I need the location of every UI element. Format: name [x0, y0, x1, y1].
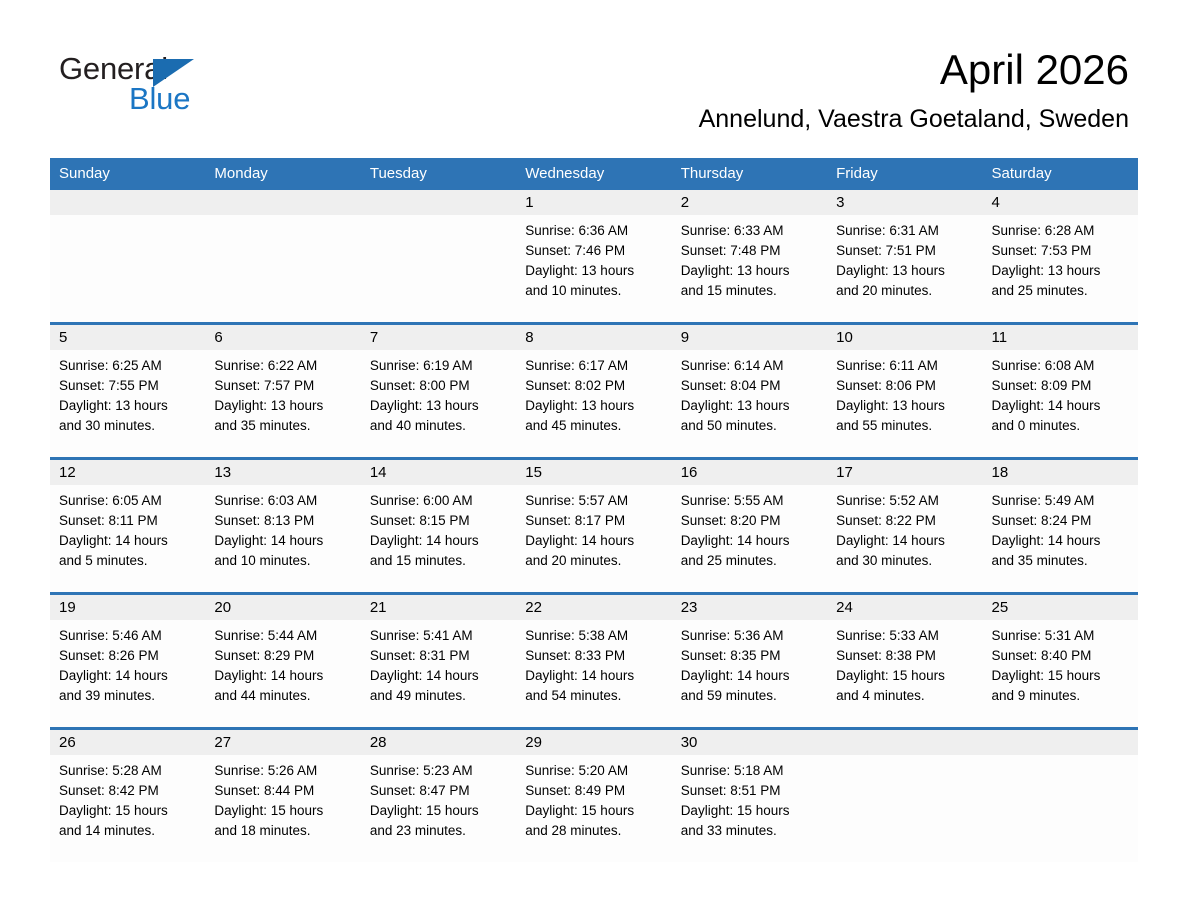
day-number: 23: [672, 595, 827, 620]
day-number: 2: [672, 190, 827, 215]
daylight-duration-line1: Daylight: 15 hours: [992, 666, 1130, 686]
calendar-day-cell-empty: [205, 190, 360, 324]
day-details: Sunrise: 5:20 AMSunset: 8:49 PMDaylight:…: [516, 755, 671, 841]
sunset-time: Sunset: 8:40 PM: [992, 646, 1130, 666]
day-number: 3: [827, 190, 982, 215]
day-details: Sunrise: 6:05 AMSunset: 8:11 PMDaylight:…: [50, 485, 205, 571]
calendar-day-cell[interactable]: 14Sunrise: 6:00 AMSunset: 8:15 PMDayligh…: [361, 459, 516, 594]
day-cell-inner: [827, 730, 982, 862]
sunset-time: Sunset: 8:51 PM: [681, 781, 819, 801]
daylight-duration-line1: Daylight: 15 hours: [59, 801, 197, 821]
day-number: 9: [672, 325, 827, 350]
daylight-duration-line1: Daylight: 14 hours: [214, 666, 352, 686]
calendar-day-cell[interactable]: 9Sunrise: 6:14 AMSunset: 8:04 PMDaylight…: [672, 324, 827, 459]
day-cell-inner: 3Sunrise: 6:31 AMSunset: 7:51 PMDaylight…: [827, 190, 982, 322]
daylight-duration-line2: and 30 minutes.: [836, 551, 974, 571]
day-details: Sunrise: 6:28 AMSunset: 7:53 PMDaylight:…: [983, 215, 1138, 301]
daylight-duration-line2: and 45 minutes.: [525, 416, 663, 436]
day-details: Sunrise: 6:17 AMSunset: 8:02 PMDaylight:…: [516, 350, 671, 436]
sunset-time: Sunset: 7:57 PM: [214, 376, 352, 396]
sunset-time: Sunset: 8:15 PM: [370, 511, 508, 531]
calendar-day-cell[interactable]: 7Sunrise: 6:19 AMSunset: 8:00 PMDaylight…: [361, 324, 516, 459]
day-cell-inner: 18Sunrise: 5:49 AMSunset: 8:24 PMDayligh…: [983, 460, 1138, 592]
day-details: Sunrise: 5:38 AMSunset: 8:33 PMDaylight:…: [516, 620, 671, 706]
day-number: 19: [50, 595, 205, 620]
day-number: 25: [983, 595, 1138, 620]
sunrise-time: Sunrise: 6:22 AM: [214, 356, 352, 376]
day-cell-inner: 26Sunrise: 5:28 AMSunset: 8:42 PMDayligh…: [50, 730, 205, 862]
day-details: Sunrise: 5:33 AMSunset: 8:38 PMDaylight:…: [827, 620, 982, 706]
weekday-header-friday: Friday: [827, 158, 982, 190]
day-number: 12: [50, 460, 205, 485]
calendar-day-cell[interactable]: 5Sunrise: 6:25 AMSunset: 7:55 PMDaylight…: [50, 324, 205, 459]
sunset-time: Sunset: 8:49 PM: [525, 781, 663, 801]
sunrise-time: Sunrise: 6:19 AM: [370, 356, 508, 376]
calendar-week-row: 1Sunrise: 6:36 AMSunset: 7:46 PMDaylight…: [50, 190, 1138, 324]
page-header: General Blue April 2026 Annelund, Vaestr…: [0, 0, 1188, 158]
calendar-day-cell[interactable]: 30Sunrise: 5:18 AMSunset: 8:51 PMDayligh…: [672, 729, 827, 863]
sunset-time: Sunset: 8:38 PM: [836, 646, 974, 666]
day-number: 20: [205, 595, 360, 620]
calendar-day-cell[interactable]: 18Sunrise: 5:49 AMSunset: 8:24 PMDayligh…: [983, 459, 1138, 594]
day-cell-inner: 10Sunrise: 6:11 AMSunset: 8:06 PMDayligh…: [827, 325, 982, 457]
sunrise-time: Sunrise: 5:41 AM: [370, 626, 508, 646]
day-details: Sunrise: 5:41 AMSunset: 8:31 PMDaylight:…: [361, 620, 516, 706]
sunset-time: Sunset: 7:48 PM: [681, 241, 819, 261]
sunrise-time: Sunrise: 6:17 AM: [525, 356, 663, 376]
sunrise-time: Sunrise: 5:28 AM: [59, 761, 197, 781]
daylight-duration-line2: and 55 minutes.: [836, 416, 974, 436]
daylight-duration-line1: Daylight: 14 hours: [836, 531, 974, 551]
daylight-duration-line1: Daylight: 14 hours: [992, 396, 1130, 416]
day-number: [50, 190, 205, 215]
day-details: Sunrise: 6:08 AMSunset: 8:09 PMDaylight:…: [983, 350, 1138, 436]
sunrise-time: Sunrise: 5:23 AM: [370, 761, 508, 781]
daylight-duration-line2: and 14 minutes.: [59, 821, 197, 841]
calendar-week-row: 5Sunrise: 6:25 AMSunset: 7:55 PMDaylight…: [50, 324, 1138, 459]
daylight-duration-line2: and 49 minutes.: [370, 686, 508, 706]
day-cell-inner: 6Sunrise: 6:22 AMSunset: 7:57 PMDaylight…: [205, 325, 360, 457]
sunset-time: Sunset: 8:11 PM: [59, 511, 197, 531]
calendar-day-cell[interactable]: 1Sunrise: 6:36 AMSunset: 7:46 PMDaylight…: [516, 190, 671, 324]
calendar-day-cell[interactable]: 2Sunrise: 6:33 AMSunset: 7:48 PMDaylight…: [672, 190, 827, 324]
calendar-week-row: 19Sunrise: 5:46 AMSunset: 8:26 PMDayligh…: [50, 594, 1138, 729]
calendar-day-cell[interactable]: 24Sunrise: 5:33 AMSunset: 8:38 PMDayligh…: [827, 594, 982, 729]
calendar-day-cell[interactable]: 25Sunrise: 5:31 AMSunset: 8:40 PMDayligh…: [983, 594, 1138, 729]
daylight-duration-line1: Daylight: 13 hours: [681, 396, 819, 416]
sunrise-time: Sunrise: 6:25 AM: [59, 356, 197, 376]
sunset-time: Sunset: 8:26 PM: [59, 646, 197, 666]
sunset-time: Sunset: 8:44 PM: [214, 781, 352, 801]
day-number: [983, 730, 1138, 755]
day-details: Sunrise: 5:36 AMSunset: 8:35 PMDaylight:…: [672, 620, 827, 706]
daylight-duration-line1: Daylight: 15 hours: [525, 801, 663, 821]
day-number: 28: [361, 730, 516, 755]
daylight-duration-line1: Daylight: 15 hours: [370, 801, 508, 821]
sunrise-time: Sunrise: 5:52 AM: [836, 491, 974, 511]
daylight-duration-line2: and 44 minutes.: [214, 686, 352, 706]
daylight-duration-line2: and 20 minutes.: [836, 281, 974, 301]
day-cell-inner: 5Sunrise: 6:25 AMSunset: 7:55 PMDaylight…: [50, 325, 205, 457]
day-number: 24: [827, 595, 982, 620]
daylight-duration-line2: and 25 minutes.: [992, 281, 1130, 301]
day-details: Sunrise: 6:14 AMSunset: 8:04 PMDaylight:…: [672, 350, 827, 436]
daylight-duration-line1: Daylight: 14 hours: [681, 666, 819, 686]
sunrise-time: Sunrise: 6:03 AM: [214, 491, 352, 511]
day-number: 13: [205, 460, 360, 485]
day-details: Sunrise: 6:11 AMSunset: 8:06 PMDaylight:…: [827, 350, 982, 436]
calendar-day-cell[interactable]: 3Sunrise: 6:31 AMSunset: 7:51 PMDaylight…: [827, 190, 982, 324]
day-details: Sunrise: 5:44 AMSunset: 8:29 PMDaylight:…: [205, 620, 360, 706]
page-title: April 2026: [699, 44, 1129, 96]
calendar-day-cell[interactable]: 6Sunrise: 6:22 AMSunset: 7:57 PMDaylight…: [205, 324, 360, 459]
day-cell-inner: [50, 190, 205, 322]
day-cell-inner: 23Sunrise: 5:36 AMSunset: 8:35 PMDayligh…: [672, 595, 827, 727]
daylight-duration-line1: Daylight: 13 hours: [992, 261, 1130, 281]
daylight-duration-line2: and 10 minutes.: [525, 281, 663, 301]
sunrise-time: Sunrise: 5:38 AM: [525, 626, 663, 646]
day-number: 7: [361, 325, 516, 350]
day-cell-inner: 28Sunrise: 5:23 AMSunset: 8:47 PMDayligh…: [361, 730, 516, 862]
day-cell-inner: 27Sunrise: 5:26 AMSunset: 8:44 PMDayligh…: [205, 730, 360, 862]
day-number: 27: [205, 730, 360, 755]
day-cell-inner: 13Sunrise: 6:03 AMSunset: 8:13 PMDayligh…: [205, 460, 360, 592]
calendar-body: 1Sunrise: 6:36 AMSunset: 7:46 PMDaylight…: [50, 190, 1138, 862]
day-number: 15: [516, 460, 671, 485]
day-cell-inner: 19Sunrise: 5:46 AMSunset: 8:26 PMDayligh…: [50, 595, 205, 727]
day-details: Sunrise: 6:00 AMSunset: 8:15 PMDaylight:…: [361, 485, 516, 571]
calendar-day-cell[interactable]: 20Sunrise: 5:44 AMSunset: 8:29 PMDayligh…: [205, 594, 360, 729]
daylight-duration-line1: Daylight: 14 hours: [59, 531, 197, 551]
weekday-header-sunday: Sunday: [50, 158, 205, 190]
calendar-week-row: 26Sunrise: 5:28 AMSunset: 8:42 PMDayligh…: [50, 729, 1138, 863]
calendar-day-cell-empty: [361, 190, 516, 324]
daylight-duration-line2: and 10 minutes.: [214, 551, 352, 571]
daylight-duration-line2: and 40 minutes.: [370, 416, 508, 436]
daylight-duration-line2: and 4 minutes.: [836, 686, 974, 706]
calendar-day-cell[interactable]: 21Sunrise: 5:41 AMSunset: 8:31 PMDayligh…: [361, 594, 516, 729]
day-cell-inner: [983, 730, 1138, 862]
location-subtitle: Annelund, Vaestra Goetaland, Sweden: [699, 102, 1129, 136]
daylight-duration-line1: Daylight: 13 hours: [836, 396, 974, 416]
day-cell-inner: 29Sunrise: 5:20 AMSunset: 8:49 PMDayligh…: [516, 730, 671, 862]
sunset-time: Sunset: 7:51 PM: [836, 241, 974, 261]
day-cell-inner: 30Sunrise: 5:18 AMSunset: 8:51 PMDayligh…: [672, 730, 827, 862]
daylight-duration-line2: and 59 minutes.: [681, 686, 819, 706]
calendar-day-cell-empty: [827, 729, 982, 863]
day-cell-inner: 25Sunrise: 5:31 AMSunset: 8:40 PMDayligh…: [983, 595, 1138, 727]
day-cell-inner: 24Sunrise: 5:33 AMSunset: 8:38 PMDayligh…: [827, 595, 982, 727]
logo-text-blue: Blue: [129, 82, 190, 116]
sunset-time: Sunset: 7:46 PM: [525, 241, 663, 261]
day-number: 6: [205, 325, 360, 350]
daylight-duration-line1: Daylight: 13 hours: [525, 261, 663, 281]
day-details: Sunrise: 5:23 AMSunset: 8:47 PMDaylight:…: [361, 755, 516, 841]
sunset-time: Sunset: 7:53 PM: [992, 241, 1130, 261]
day-cell-inner: 9Sunrise: 6:14 AMSunset: 8:04 PMDaylight…: [672, 325, 827, 457]
general-blue-logo: General Blue: [59, 52, 259, 118]
sunset-time: Sunset: 8:09 PM: [992, 376, 1130, 396]
day-details: Sunrise: 6:31 AMSunset: 7:51 PMDaylight:…: [827, 215, 982, 301]
day-details: Sunrise: 5:57 AMSunset: 8:17 PMDaylight:…: [516, 485, 671, 571]
daylight-duration-line2: and 5 minutes.: [59, 551, 197, 571]
sunrise-time: Sunrise: 5:36 AM: [681, 626, 819, 646]
sunset-time: Sunset: 8:22 PM: [836, 511, 974, 531]
day-number: 10: [827, 325, 982, 350]
sunrise-time: Sunrise: 5:49 AM: [992, 491, 1130, 511]
day-cell-inner: 11Sunrise: 6:08 AMSunset: 8:09 PMDayligh…: [983, 325, 1138, 457]
day-details: Sunrise: 6:36 AMSunset: 7:46 PMDaylight:…: [516, 215, 671, 301]
calendar-day-cell-empty: [50, 190, 205, 324]
day-cell-inner: [205, 190, 360, 322]
day-details: Sunrise: 6:33 AMSunset: 7:48 PMDaylight:…: [672, 215, 827, 301]
daylight-duration-line2: and 39 minutes.: [59, 686, 197, 706]
day-details: Sunrise: 6:25 AMSunset: 7:55 PMDaylight:…: [50, 350, 205, 436]
daylight-duration-line1: Daylight: 13 hours: [836, 261, 974, 281]
day-cell-inner: 4Sunrise: 6:28 AMSunset: 7:53 PMDaylight…: [983, 190, 1138, 322]
day-details: Sunrise: 5:55 AMSunset: 8:20 PMDaylight:…: [672, 485, 827, 571]
day-cell-inner: 21Sunrise: 5:41 AMSunset: 8:31 PMDayligh…: [361, 595, 516, 727]
day-number: 29: [516, 730, 671, 755]
day-cell-inner: 20Sunrise: 5:44 AMSunset: 8:29 PMDayligh…: [205, 595, 360, 727]
sunrise-time: Sunrise: 6:31 AM: [836, 221, 974, 241]
sunset-time: Sunset: 8:33 PM: [525, 646, 663, 666]
day-number: 30: [672, 730, 827, 755]
calendar-day-cell[interactable]: 19Sunrise: 5:46 AMSunset: 8:26 PMDayligh…: [50, 594, 205, 729]
day-cell-inner: 7Sunrise: 6:19 AMSunset: 8:00 PMDaylight…: [361, 325, 516, 457]
sunrise-time: Sunrise: 5:31 AM: [992, 626, 1130, 646]
day-number: [205, 190, 360, 215]
sunset-time: Sunset: 8:17 PM: [525, 511, 663, 531]
day-number: [827, 730, 982, 755]
daylight-duration-line1: Daylight: 14 hours: [370, 666, 508, 686]
calendar-day-cell[interactable]: 4Sunrise: 6:28 AMSunset: 7:53 PMDaylight…: [983, 190, 1138, 324]
day-number: 22: [516, 595, 671, 620]
calendar-table: Sunday Monday Tuesday Wednesday Thursday…: [50, 158, 1138, 862]
day-number: 21: [361, 595, 516, 620]
day-number: 8: [516, 325, 671, 350]
weekday-header-tuesday: Tuesday: [361, 158, 516, 190]
sunrise-time: Sunrise: 5:20 AM: [525, 761, 663, 781]
sunset-time: Sunset: 8:47 PM: [370, 781, 508, 801]
weekday-header-row: Sunday Monday Tuesday Wednesday Thursday…: [50, 158, 1138, 190]
daylight-duration-line1: Daylight: 14 hours: [525, 666, 663, 686]
title-block: April 2026 Annelund, Vaestra Goetaland, …: [699, 44, 1129, 136]
sunrise-time: Sunrise: 5:57 AM: [525, 491, 663, 511]
daylight-duration-line2: and 35 minutes.: [214, 416, 352, 436]
sunrise-time: Sunrise: 6:11 AM: [836, 356, 974, 376]
sunset-time: Sunset: 7:55 PM: [59, 376, 197, 396]
sunrise-time: Sunrise: 5:55 AM: [681, 491, 819, 511]
sunrise-time: Sunrise: 5:18 AM: [681, 761, 819, 781]
calendar-day-cell[interactable]: 17Sunrise: 5:52 AMSunset: 8:22 PMDayligh…: [827, 459, 982, 594]
daylight-duration-line1: Daylight: 14 hours: [681, 531, 819, 551]
weekday-header-saturday: Saturday: [983, 158, 1138, 190]
daylight-duration-line1: Daylight: 15 hours: [681, 801, 819, 821]
sunrise-time: Sunrise: 6:28 AM: [992, 221, 1130, 241]
daylight-duration-line1: Daylight: 14 hours: [370, 531, 508, 551]
daylight-duration-line2: and 15 minutes.: [681, 281, 819, 301]
daylight-duration-line2: and 18 minutes.: [214, 821, 352, 841]
daylight-duration-line1: Daylight: 14 hours: [59, 666, 197, 686]
sunrise-time: Sunrise: 6:00 AM: [370, 491, 508, 511]
calendar-day-cell[interactable]: 11Sunrise: 6:08 AMSunset: 8:09 PMDayligh…: [983, 324, 1138, 459]
calendar-day-cell[interactable]: 23Sunrise: 5:36 AMSunset: 8:35 PMDayligh…: [672, 594, 827, 729]
weekday-header-monday: Monday: [205, 158, 360, 190]
calendar-week-row: 12Sunrise: 6:05 AMSunset: 8:11 PMDayligh…: [50, 459, 1138, 594]
sunset-time: Sunset: 8:24 PM: [992, 511, 1130, 531]
sunset-time: Sunset: 8:02 PM: [525, 376, 663, 396]
calendar-day-cell[interactable]: 13Sunrise: 6:03 AMSunset: 8:13 PMDayligh…: [205, 459, 360, 594]
daylight-duration-line2: and 23 minutes.: [370, 821, 508, 841]
daylight-duration-line1: Daylight: 14 hours: [992, 531, 1130, 551]
sunrise-time: Sunrise: 5:46 AM: [59, 626, 197, 646]
daylight-duration-line2: and 54 minutes.: [525, 686, 663, 706]
day-details: Sunrise: 5:26 AMSunset: 8:44 PMDaylight:…: [205, 755, 360, 841]
sunset-time: Sunset: 8:13 PM: [214, 511, 352, 531]
sunrise-time: Sunrise: 5:33 AM: [836, 626, 974, 646]
sunset-time: Sunset: 8:20 PM: [681, 511, 819, 531]
day-number: 17: [827, 460, 982, 485]
daylight-duration-line1: Daylight: 14 hours: [214, 531, 352, 551]
daylight-duration-line2: and 25 minutes.: [681, 551, 819, 571]
day-details: Sunrise: 6:19 AMSunset: 8:00 PMDaylight:…: [361, 350, 516, 436]
calendar-day-cell[interactable]: 12Sunrise: 6:05 AMSunset: 8:11 PMDayligh…: [50, 459, 205, 594]
day-cell-inner: 8Sunrise: 6:17 AMSunset: 8:02 PMDaylight…: [516, 325, 671, 457]
sunset-time: Sunset: 8:35 PM: [681, 646, 819, 666]
calendar-day-cell[interactable]: 26Sunrise: 5:28 AMSunset: 8:42 PMDayligh…: [50, 729, 205, 863]
day-details: Sunrise: 5:52 AMSunset: 8:22 PMDaylight:…: [827, 485, 982, 571]
daylight-duration-line1: Daylight: 15 hours: [214, 801, 352, 821]
daylight-duration-line2: and 33 minutes.: [681, 821, 819, 841]
daylight-duration-line2: and 15 minutes.: [370, 551, 508, 571]
day-number: 1: [516, 190, 671, 215]
sunset-time: Sunset: 8:42 PM: [59, 781, 197, 801]
daylight-duration-line2: and 0 minutes.: [992, 416, 1130, 436]
day-details: Sunrise: 5:28 AMSunset: 8:42 PMDaylight:…: [50, 755, 205, 841]
day-details: Sunrise: 6:03 AMSunset: 8:13 PMDaylight:…: [205, 485, 360, 571]
day-number: 4: [983, 190, 1138, 215]
calendar-day-cell[interactable]: 22Sunrise: 5:38 AMSunset: 8:33 PMDayligh…: [516, 594, 671, 729]
day-cell-inner: 16Sunrise: 5:55 AMSunset: 8:20 PMDayligh…: [672, 460, 827, 592]
day-cell-inner: 1Sunrise: 6:36 AMSunset: 7:46 PMDaylight…: [516, 190, 671, 322]
calendar-day-cell[interactable]: 16Sunrise: 5:55 AMSunset: 8:20 PMDayligh…: [672, 459, 827, 594]
day-number: [361, 190, 516, 215]
daylight-duration-line2: and 50 minutes.: [681, 416, 819, 436]
day-cell-inner: [361, 190, 516, 322]
weekday-header-wednesday: Wednesday: [516, 158, 671, 190]
daylight-duration-line1: Daylight: 13 hours: [681, 261, 819, 281]
sunset-time: Sunset: 8:00 PM: [370, 376, 508, 396]
sunrise-time: Sunrise: 6:36 AM: [525, 221, 663, 241]
sunrise-time: Sunrise: 6:33 AM: [681, 221, 819, 241]
sunrise-time: Sunrise: 6:05 AM: [59, 491, 197, 511]
daylight-duration-line1: Daylight: 13 hours: [59, 396, 197, 416]
day-number: 18: [983, 460, 1138, 485]
daylight-duration-line2: and 9 minutes.: [992, 686, 1130, 706]
calendar-day-cell[interactable]: 10Sunrise: 6:11 AMSunset: 8:06 PMDayligh…: [827, 324, 982, 459]
sunset-time: Sunset: 8:06 PM: [836, 376, 974, 396]
sunrise-time: Sunrise: 5:44 AM: [214, 626, 352, 646]
day-number: 16: [672, 460, 827, 485]
day-cell-inner: 22Sunrise: 5:38 AMSunset: 8:33 PMDayligh…: [516, 595, 671, 727]
daylight-duration-line2: and 28 minutes.: [525, 821, 663, 841]
calendar-page: General Blue April 2026 Annelund, Vaestr…: [0, 0, 1188, 918]
sunset-time: Sunset: 8:04 PM: [681, 376, 819, 396]
day-cell-inner: 15Sunrise: 5:57 AMSunset: 8:17 PMDayligh…: [516, 460, 671, 592]
day-details: Sunrise: 5:31 AMSunset: 8:40 PMDaylight:…: [983, 620, 1138, 706]
day-details: Sunrise: 5:49 AMSunset: 8:24 PMDaylight:…: [983, 485, 1138, 571]
daylight-duration-line2: and 35 minutes.: [992, 551, 1130, 571]
day-cell-inner: 17Sunrise: 5:52 AMSunset: 8:22 PMDayligh…: [827, 460, 982, 592]
day-details: Sunrise: 5:18 AMSunset: 8:51 PMDaylight:…: [672, 755, 827, 841]
calendar-day-cell[interactable]: 15Sunrise: 5:57 AMSunset: 8:17 PMDayligh…: [516, 459, 671, 594]
day-number: 11: [983, 325, 1138, 350]
day-cell-inner: 12Sunrise: 6:05 AMSunset: 8:11 PMDayligh…: [50, 460, 205, 592]
daylight-duration-line2: and 20 minutes.: [525, 551, 663, 571]
day-details: Sunrise: 5:46 AMSunset: 8:26 PMDaylight:…: [50, 620, 205, 706]
day-cell-inner: 2Sunrise: 6:33 AMSunset: 7:48 PMDaylight…: [672, 190, 827, 322]
calendar-day-cell[interactable]: 28Sunrise: 5:23 AMSunset: 8:47 PMDayligh…: [361, 729, 516, 863]
weekday-header-thursday: Thursday: [672, 158, 827, 190]
sunset-time: Sunset: 8:29 PM: [214, 646, 352, 666]
day-number: 5: [50, 325, 205, 350]
daylight-duration-line1: Daylight: 15 hours: [836, 666, 974, 686]
daylight-duration-line1: Daylight: 13 hours: [214, 396, 352, 416]
day-number: 26: [50, 730, 205, 755]
sunset-time: Sunset: 8:31 PM: [370, 646, 508, 666]
calendar-day-cell[interactable]: 27Sunrise: 5:26 AMSunset: 8:44 PMDayligh…: [205, 729, 360, 863]
day-number: 14: [361, 460, 516, 485]
day-cell-inner: 14Sunrise: 6:00 AMSunset: 8:15 PMDayligh…: [361, 460, 516, 592]
daylight-duration-line1: Daylight: 13 hours: [525, 396, 663, 416]
daylight-duration-line1: Daylight: 13 hours: [370, 396, 508, 416]
daylight-duration-line1: Daylight: 14 hours: [525, 531, 663, 551]
sunrise-time: Sunrise: 5:26 AM: [214, 761, 352, 781]
daylight-duration-line2: and 30 minutes.: [59, 416, 197, 436]
sunrise-time: Sunrise: 6:08 AM: [992, 356, 1130, 376]
sunrise-time: Sunrise: 6:14 AM: [681, 356, 819, 376]
calendar-day-cell[interactable]: 29Sunrise: 5:20 AMSunset: 8:49 PMDayligh…: [516, 729, 671, 863]
calendar-day-cell[interactable]: 8Sunrise: 6:17 AMSunset: 8:02 PMDaylight…: [516, 324, 671, 459]
calendar-day-cell-empty: [983, 729, 1138, 863]
day-details: Sunrise: 6:22 AMSunset: 7:57 PMDaylight:…: [205, 350, 360, 436]
